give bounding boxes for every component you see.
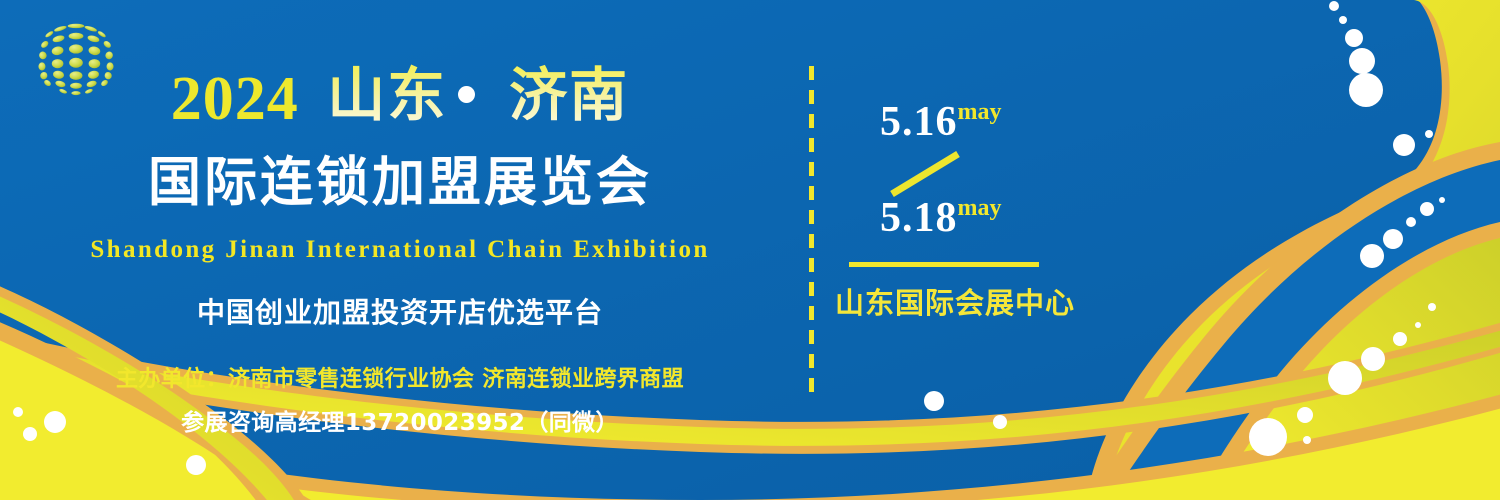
year-text: 2024 (171, 65, 299, 133)
end-date-month: may (958, 195, 1002, 221)
dot-separator-icon (458, 86, 475, 103)
province-text: 山东 (327, 61, 447, 129)
date-range-slash-icon (886, 148, 966, 200)
headline-year-location: 2024 山东 济南 (0, 66, 800, 130)
end-date-number: 5.18 (880, 195, 958, 241)
start-date-number: 5.16 (880, 99, 958, 145)
venue-text: 山东国际会展中心 (830, 280, 1080, 322)
city-text: 济南 (509, 61, 629, 129)
exhibition-banner: 2024 山东 济南 国际连锁加盟展览会 Shandong Jinan Inte… (0, 0, 1500, 500)
end-date-row: 5.18may (880, 194, 1002, 242)
start-date-row: 5.16may (880, 98, 1002, 146)
event-info-block: 5.16may 5.18may 山东国际会展中心 (830, 60, 1140, 360)
headline-block: 2024 山东 济南 国际连锁加盟展览会 Shandong Jinan Inte… (0, 0, 800, 500)
venue-underline (849, 262, 1039, 267)
headline-title-cn: 国际连锁加盟展览会 (0, 155, 800, 211)
dashed-divider (809, 66, 814, 398)
organizers-text: 主办单位：济南市零售连锁行业协会 济南连锁业跨界商盟 (0, 361, 800, 393)
contact-text: 参展咨询高经理13720023952（同微） (0, 403, 800, 437)
start-date-month: may (958, 99, 1002, 125)
headline-slogan: 中国创业加盟投资开店优选平台 (0, 291, 800, 331)
headline-title-en: Shandong Jinan International Chain Exhib… (0, 236, 800, 264)
